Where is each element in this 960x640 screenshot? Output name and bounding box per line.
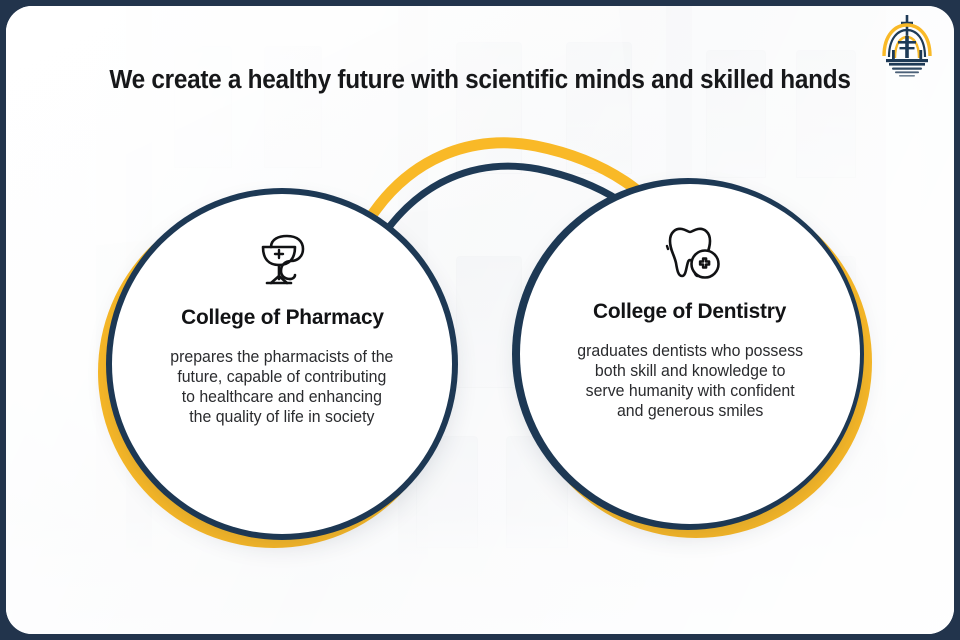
bowl-of-hygieia-icon [251, 228, 313, 293]
pharmacy-description: prepares the pharmacists of the future, … [170, 347, 393, 427]
node-pharmacy[interactable]: College of Pharmacy prepares the pharmac… [98, 188, 464, 548]
node-dentistry[interactable]: College of Dentistry graduates dentists … [508, 174, 874, 546]
poster-frame: We create a healthy future with scientif… [0, 0, 960, 640]
dentistry-description-line: serve humanity with confident [577, 381, 803, 401]
university-emblem-logo [876, 12, 938, 80]
pharmacy-description-line: future, capable of contributing [170, 367, 393, 387]
poster-panel: We create a healthy future with scientif… [6, 6, 954, 634]
pharmacy-description-line: the quality of life in society [170, 407, 393, 427]
dentistry-title: College of Dentistry [593, 299, 786, 324]
pharmacy-title: College of Pharmacy [181, 305, 384, 330]
dentistry-description-line: and generous smiles [577, 401, 803, 421]
dentistry-description-line: both skill and knowledge to [577, 361, 803, 381]
pharmacy-disc: College of Pharmacy prepares the pharmac… [112, 194, 452, 534]
dentistry-description: graduates dentists who possess both skil… [577, 341, 803, 421]
dentistry-disc: College of Dentistry graduates dentists … [520, 184, 860, 524]
dentistry-description-line: graduates dentists who possess [577, 341, 803, 361]
pharmacy-description-line: to healthcare and enhancing [170, 387, 393, 407]
page-title: We create a healthy future with scientif… [27, 66, 932, 95]
pharmacy-description-line: prepares the pharmacists of the [170, 347, 393, 367]
tooth-with-cross-icon [658, 224, 722, 287]
